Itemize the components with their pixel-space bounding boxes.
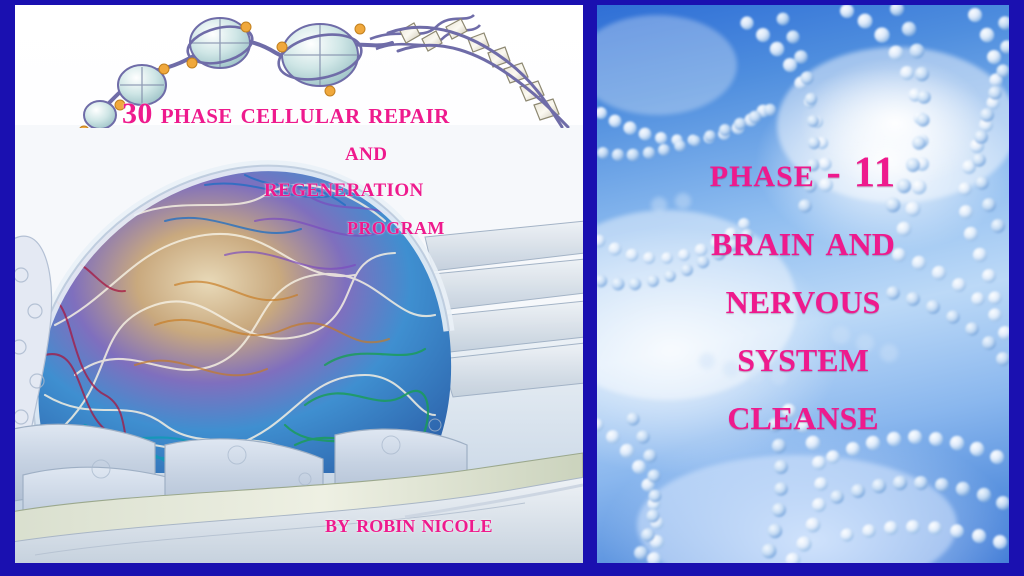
right-panel: Phase - 11 Brain and Nervous System Clea… (597, 5, 1009, 563)
left-panel: 30 Phase Cellular Repair And Regeneratio… (15, 5, 583, 563)
phase-label: Phase - 11 (597, 151, 1009, 194)
frame-right (1009, 0, 1024, 576)
author-byline: By Robin Nicole (15, 511, 583, 539)
left-title-line-3: Regeneration (15, 174, 583, 202)
poster-image: 30 Phase Cellular Repair And Regeneratio… (0, 0, 1024, 576)
left-title-line-1: 30 Phase Cellular Repair (15, 99, 583, 130)
left-title-block: 30 Phase Cellular Repair And Regeneratio… (15, 99, 583, 239)
frame-left (0, 0, 15, 576)
left-title-line-2: And (15, 138, 583, 166)
right-title-line-2: Brain and (597, 218, 1009, 263)
left-title-line-4: Program (15, 213, 583, 240)
frame-top (0, 0, 1024, 5)
frame-bottom (0, 563, 1024, 576)
right-title-block: Phase - 11 Brain and Nervous System Clea… (597, 151, 1009, 437)
right-title-line-5: Cleanse (597, 392, 1009, 437)
right-title-line-3: Nervous (597, 276, 1009, 321)
right-title-line-4: System (597, 334, 1009, 379)
panel-divider (583, 0, 597, 576)
